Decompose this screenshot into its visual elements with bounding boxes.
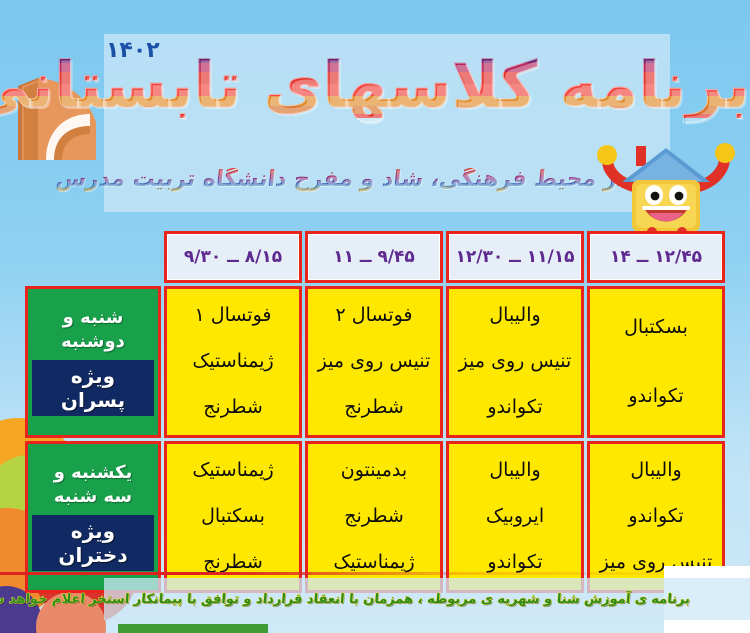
daygroup-days: شنبه و دوشنبه bbox=[32, 306, 154, 355]
daygroup-days-line1: یکشنبه و bbox=[32, 461, 154, 485]
cell-girls-1115[interactable]: والیبال ایروبیک تکواندو bbox=[446, 441, 584, 593]
status-badge-boys: ویژه پسران bbox=[32, 360, 154, 416]
class-item: ژیمناستیک bbox=[175, 459, 291, 483]
class-item: والیبال bbox=[598, 459, 714, 483]
time-header-1115-1230: ۱۱/۱۵ ــ ۱۲/۳۰ bbox=[446, 231, 584, 283]
schedule-table-wrap: ۱۲/۴۵ ــ ۱۴ ۱۱/۱۵ ــ ۱۲/۳۰ ۹/۴۵ ــ ۱۱ ۸/… bbox=[22, 228, 728, 566]
class-item: شطرنج bbox=[175, 396, 291, 420]
class-item: بسکتبال bbox=[175, 505, 291, 529]
cell-boys-945[interactable]: فوتسال ۲ تنیس روی میز شطرنج bbox=[305, 286, 443, 438]
class-list: والیبال ایروبیک تکواندو bbox=[457, 448, 573, 586]
class-item: والیبال bbox=[457, 304, 573, 328]
class-item: تکواندو bbox=[457, 396, 573, 420]
title-wrap: برنامه کلاسهای تابستانی bbox=[60, 26, 750, 146]
class-item: تنیس روی میز bbox=[457, 350, 573, 374]
cell-boys-1245[interactable]: بسکتبال تکواندو bbox=[587, 286, 725, 438]
status-badge-girls: ویژه دختران bbox=[32, 515, 154, 571]
daygroup-days-line1: شنبه و bbox=[32, 306, 154, 330]
time-header-1245-14: ۱۲/۴۵ ــ ۱۴ bbox=[587, 231, 725, 283]
class-list: فوتسال ۱ ژیمناستیک شطرنج bbox=[175, 293, 291, 431]
page-subtitle: در محیط فرهنگی، شاد و مفرح دانشگاه تربیت… bbox=[47, 168, 630, 192]
footer-green-strip bbox=[118, 624, 268, 633]
schedule-thead: ۱۲/۴۵ ــ ۱۴ ۱۱/۱۵ ــ ۱۲/۳۰ ۹/۴۵ ــ ۱۱ ۸/… bbox=[25, 231, 725, 283]
daygroup-days-line2: سه شنبه bbox=[32, 485, 154, 509]
table-corner-cell bbox=[25, 231, 161, 283]
schedule-tbody: بسکتبال تکواندو والیبال تنیس روی میز تکو… bbox=[25, 286, 725, 593]
class-item: ایروبیک bbox=[457, 505, 573, 529]
poster-root: ۱۴۰۲ برنامه کلاسهای تابستانی در محیط فره… bbox=[0, 0, 750, 633]
daygroup-boys: شنبه و دوشنبه ویژه پسران bbox=[25, 286, 161, 438]
class-item: بدمینتون bbox=[316, 459, 432, 483]
class-item: تکواندو bbox=[598, 385, 714, 409]
schedule-table: ۱۲/۴۵ ــ ۱۴ ۱۱/۱۵ ــ ۱۲/۳۰ ۹/۴۵ ــ ۱۱ ۸/… bbox=[22, 228, 728, 596]
class-item: فوتسال ۱ bbox=[175, 304, 291, 328]
footer-divider-rule bbox=[0, 572, 750, 575]
class-list: فوتسال ۲ تنیس روی میز شطرنج bbox=[316, 293, 432, 431]
class-item: بسکتبال bbox=[598, 316, 714, 340]
time-header-945-11: ۹/۴۵ ــ ۱۱ bbox=[305, 231, 443, 283]
class-item: شطرنج bbox=[316, 505, 432, 529]
schedule-header-row: ۱۲/۴۵ ــ ۱۴ ۱۱/۱۵ ــ ۱۲/۳۰ ۹/۴۵ ــ ۱۱ ۸/… bbox=[25, 231, 725, 283]
table-row: والیبال تکواندو تنیس روی میز والیبال ایر… bbox=[25, 441, 725, 593]
class-item: تنیس روی میز bbox=[316, 350, 432, 374]
class-item: تکواندو bbox=[598, 505, 714, 529]
cell-boys-1115[interactable]: والیبال تنیس روی میز تکواندو bbox=[446, 286, 584, 438]
footer-note: برنامه ی آموزش شنا و شهریه ی مربوطه ، هم… bbox=[89, 592, 690, 607]
time-header-815-930: ۸/۱۵ ــ ۹/۳۰ bbox=[164, 231, 302, 283]
class-list: بسکتبال تکواندو bbox=[598, 293, 714, 431]
cell-boys-815[interactable]: فوتسال ۱ ژیمناستیک شطرنج bbox=[164, 286, 302, 438]
daygroup-days: یکشنبه و سه شنبه bbox=[32, 461, 154, 510]
class-list: بدمینتون شطرنج ژیمناستیک bbox=[316, 448, 432, 586]
cell-girls-945[interactable]: بدمینتون شطرنج ژیمناستیک bbox=[305, 441, 443, 593]
daygroup-girls: یکشنبه و سه شنبه ویژه دختران bbox=[25, 441, 161, 593]
class-list: ژیمناستیک بسکتبال شطرنج bbox=[175, 448, 291, 586]
class-list: والیبال تنیس روی میز تکواندو bbox=[457, 293, 573, 431]
class-item: فوتسال ۲ bbox=[316, 304, 432, 328]
daygroup-days-line2: دوشنبه bbox=[32, 330, 154, 354]
page-title: برنامه کلاسهای تابستانی bbox=[0, 54, 750, 118]
table-row: بسکتبال تکواندو والیبال تنیس روی میز تکو… bbox=[25, 286, 725, 438]
cell-girls-815[interactable]: ژیمناستیک بسکتبال شطرنج bbox=[164, 441, 302, 593]
class-item: والیبال bbox=[457, 459, 573, 483]
class-item: شطرنج bbox=[316, 396, 432, 420]
class-item: ژیمناستیک bbox=[175, 350, 291, 374]
